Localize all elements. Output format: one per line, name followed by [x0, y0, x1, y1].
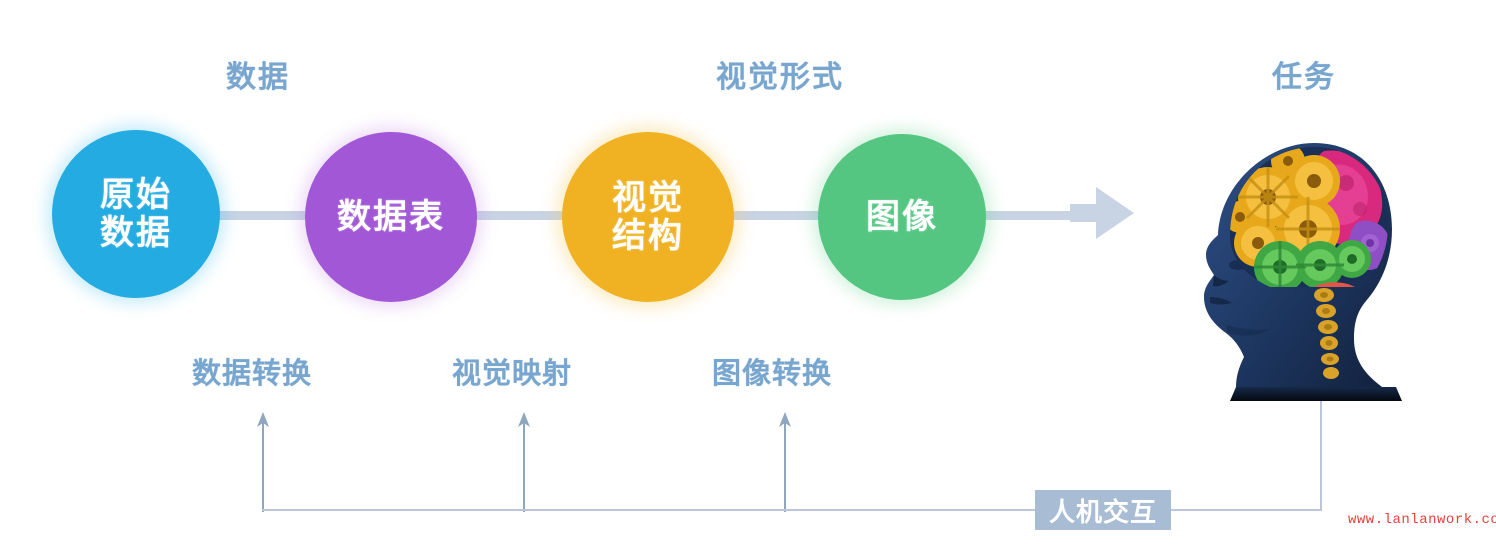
- interaction-chip[interactable]: 人机交互: [1035, 490, 1171, 530]
- node-visual-structure-line-2: 结构: [612, 217, 684, 255]
- brain-gears-head-icon: [1196, 125, 1416, 410]
- node-image-line-1: 图像: [866, 198, 938, 236]
- node-data-table[interactable]: 数据表: [305, 132, 477, 302]
- transform-label-image-transform: 图像转换: [712, 350, 832, 392]
- feedback-arrow-3-icon: [777, 412, 793, 512]
- feedback-arrow-1-icon: [255, 412, 271, 512]
- transform-label-visual-mapping: 视觉映射: [452, 350, 572, 392]
- node-raw-data[interactable]: 原始 数据: [52, 130, 220, 298]
- node-visual-structure-line-1: 视觉: [612, 179, 684, 217]
- node-visual-structure[interactable]: 视觉 结构: [562, 132, 734, 302]
- stage-label-data: 数据: [226, 52, 290, 96]
- node-raw-data-line-1: 原始: [100, 176, 172, 214]
- node-data-table-line-1: 数据表: [337, 198, 445, 236]
- right-arrow-icon: [1070, 182, 1136, 244]
- transform-label-data-transform: 数据转换: [192, 350, 312, 392]
- node-raw-data-line-2: 数据: [100, 214, 172, 252]
- feedback-arrow-2-icon: [516, 412, 532, 512]
- stage-label-visual-form: 视觉形式: [716, 52, 844, 96]
- node-image[interactable]: 图像: [818, 134, 986, 300]
- stage-label-task: 任务: [1272, 52, 1336, 96]
- watermark-text: www.lanlanwork.com: [1348, 512, 1496, 528]
- diagram-canvas: 数据 视觉形式 任务 原始 数据 数据表 视觉 结构 图像 数据转换 视觉映射 …: [0, 0, 1496, 544]
- feedback-riser-line: [1320, 400, 1322, 510]
